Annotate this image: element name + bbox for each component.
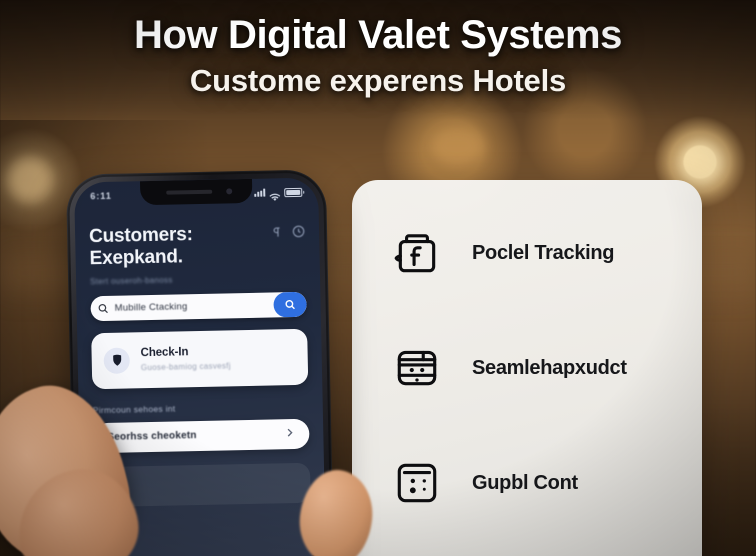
checkin-card-subtitle: Guose-bamiog casvesfj xyxy=(141,362,231,373)
checkin-card[interactable]: Check-In Guose-bamiog casvesfj xyxy=(91,329,308,390)
phone-notch xyxy=(140,179,252,205)
feature-item-2[interactable]: Seamlehapxudct xyxy=(390,341,627,395)
headline: How Digital Valet Systems Custome expere… xyxy=(0,14,756,98)
phone-screen: 6:11 Customers: Exepkand. xyxy=(74,177,326,556)
wifi-icon xyxy=(269,188,280,196)
card-dots-icon xyxy=(390,341,444,395)
battery-icon xyxy=(284,187,302,196)
bokeh-light-right xyxy=(678,140,724,186)
app-subtitle: Stert ouseroh-banoss xyxy=(90,273,306,287)
feature-item-1[interactable]: Poclel Tracking xyxy=(390,226,614,280)
recent-checkin-label: Seorhss cheoketn xyxy=(107,430,197,443)
feature-label-1: Poclel Tracking xyxy=(472,242,614,265)
app-header: Customers: Exepkand. xyxy=(89,222,306,271)
feature-label-3: Gupbl Cont xyxy=(472,472,578,495)
feature-label-2: Seamlehapxudct xyxy=(472,357,627,380)
square-dots-icon xyxy=(390,456,444,510)
feature-item-3[interactable]: Gupbl Cont xyxy=(390,456,578,510)
search-submit-button[interactable] xyxy=(273,292,307,318)
search-input[interactable]: Mubille Ctacking xyxy=(115,299,274,313)
headline-line-1: How Digital Valet Systems xyxy=(0,14,756,57)
status-time: 6:11 xyxy=(90,191,112,201)
features-panel: Poclel Tracking Seamlehapxudct xyxy=(352,180,702,556)
app-title: Customers: Exepkand. xyxy=(89,224,193,271)
bokeh-light-center xyxy=(430,126,484,166)
status-icons xyxy=(254,187,302,197)
shield-pin-icon xyxy=(103,347,130,374)
placeholder-card xyxy=(94,463,311,508)
bag-f-icon xyxy=(390,226,444,280)
bokeh-light-left xyxy=(8,158,52,202)
smartphone-mockup: 6:11 Customers: Exepkand. xyxy=(66,169,334,556)
app-content: Customers: Exepkand. xyxy=(75,207,326,556)
clock-circle-icon[interactable] xyxy=(292,225,305,243)
headline-line-2: Custome experens Hotels xyxy=(0,64,756,98)
promo-graphic: How Digital Valet Systems Custome expere… xyxy=(0,0,756,556)
app-header-actions xyxy=(271,222,305,244)
recent-checkin-button[interactable]: Seorhss cheoketn xyxy=(93,419,310,454)
search-icon xyxy=(91,303,115,315)
checkin-card-text: Check-In Guose-bamiog casvesfj xyxy=(140,346,230,373)
earpiece-speaker xyxy=(166,190,212,195)
chevron-right-icon xyxy=(284,425,295,443)
front-camera xyxy=(226,188,232,194)
search-bar[interactable]: Mubille Ctacking xyxy=(90,292,306,322)
checkin-card-title: Check-In xyxy=(140,346,230,360)
pilcrow-icon[interactable] xyxy=(271,225,283,243)
section-label: Pirmcoun sehoes int xyxy=(93,401,309,416)
signal-icon xyxy=(254,189,265,197)
